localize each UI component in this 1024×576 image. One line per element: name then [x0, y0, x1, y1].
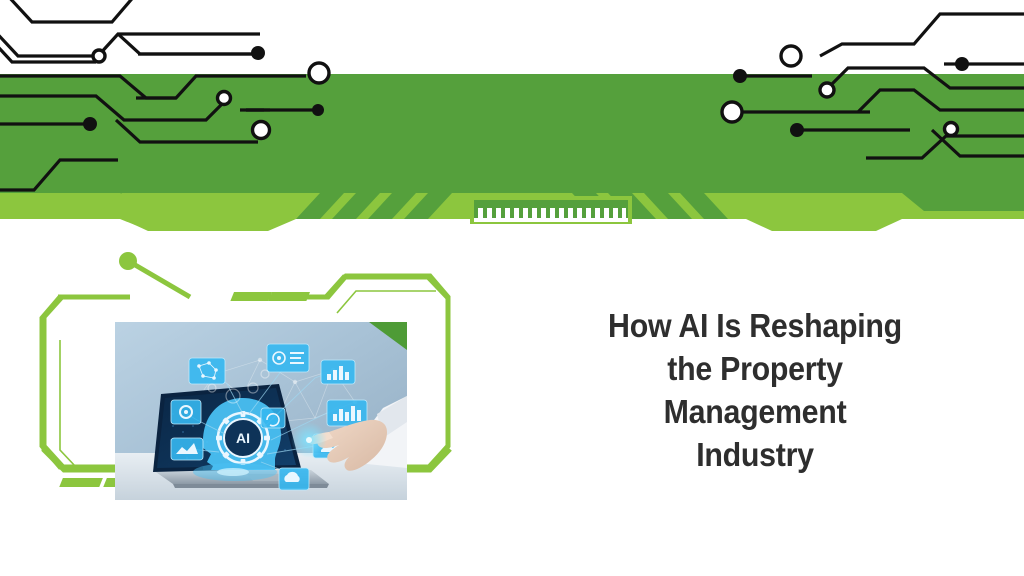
pin-connector-comb [470, 196, 632, 224]
icon-card-gear [171, 400, 201, 424]
screen-glow-core [217, 468, 249, 476]
icon-card-chart-top [321, 360, 355, 384]
frame-node-dot [119, 252, 137, 270]
icon-card-dashboard [267, 344, 309, 372]
frame-top-left-arm [42, 297, 113, 467]
frame-thin-line-topright [337, 291, 436, 313]
headline-line-4: Industry [562, 433, 948, 476]
banner-root: AI [0, 0, 1024, 576]
photo-corner-fold [369, 322, 409, 352]
svg-text:AI: AI [236, 430, 250, 446]
fingertip-spark [306, 437, 312, 443]
icon-card-sync [261, 408, 285, 428]
icon-card-image [171, 438, 203, 460]
frame-node-lead [119, 252, 190, 297]
headline-line-1: How AI Is Reshaping [562, 304, 948, 347]
icon-card-network [189, 358, 225, 384]
ai-laptop-photo: AI [115, 322, 407, 500]
frame-top-dashes [230, 292, 310, 301]
headline-line-3: Management [562, 390, 948, 433]
content-area: AI [0, 232, 1024, 576]
icon-card-cloud [279, 468, 309, 490]
circuit-header-band [0, 0, 1024, 232]
article-title: How AI Is Reshaping the Property Managem… [562, 304, 948, 476]
headline-line-2: the Property [562, 347, 948, 390]
